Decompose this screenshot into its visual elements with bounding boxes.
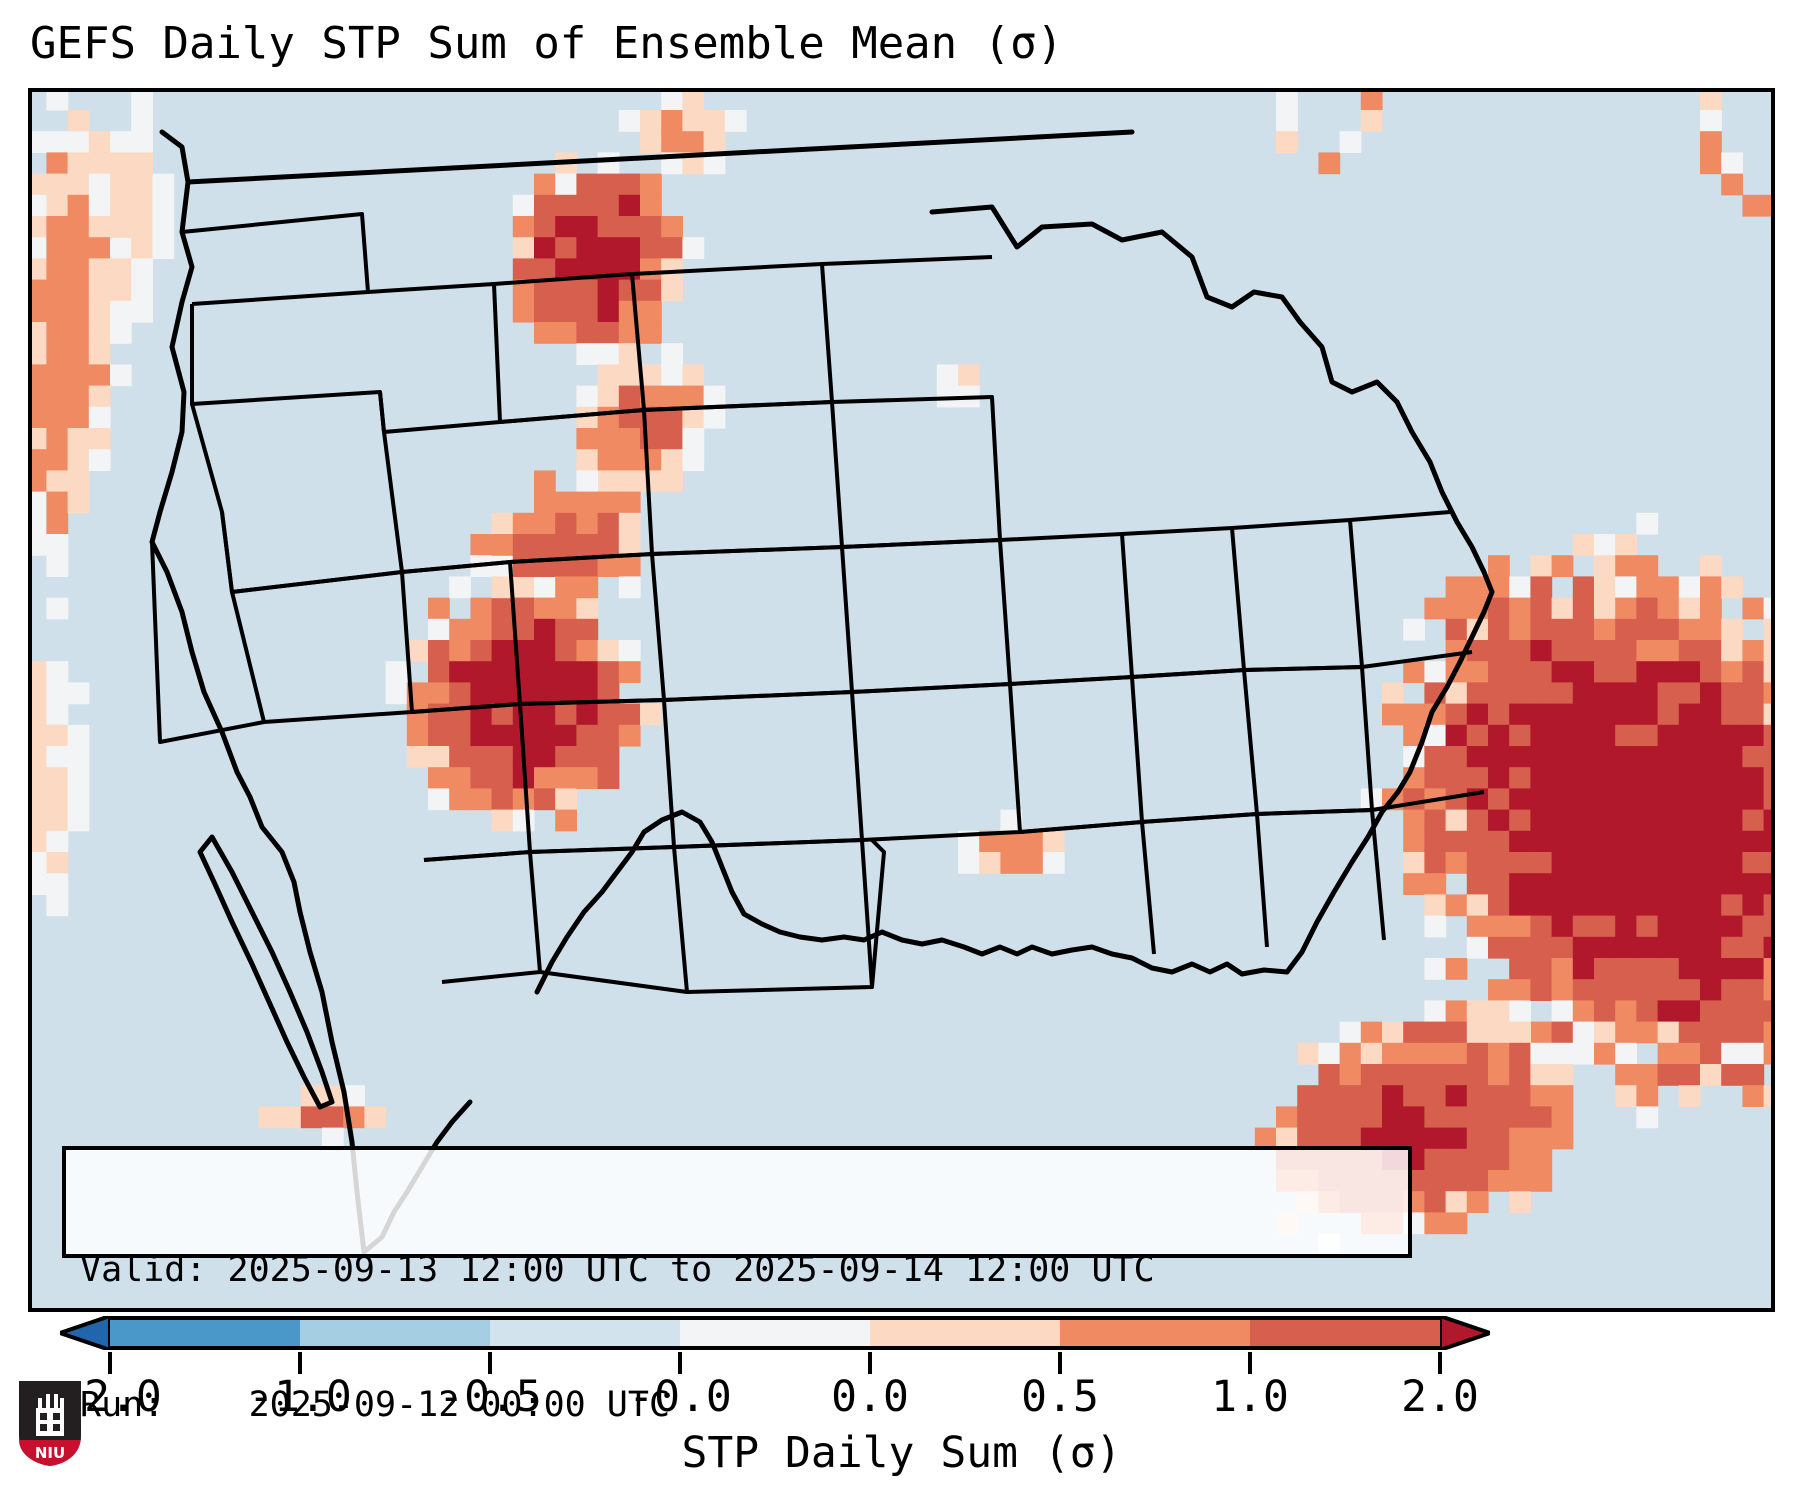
heatmap-cell bbox=[1530, 1043, 1552, 1065]
heatmap-cell bbox=[555, 725, 577, 747]
heatmap-cell bbox=[1446, 831, 1468, 853]
heatmap-cell bbox=[598, 216, 620, 238]
heatmap-cell bbox=[1658, 894, 1680, 916]
heatmap-cell bbox=[682, 364, 704, 386]
heatmap-cell bbox=[640, 704, 662, 726]
heatmap-cell bbox=[68, 152, 90, 174]
heatmap-cell bbox=[1658, 788, 1680, 810]
heatmap-cell bbox=[32, 492, 47, 514]
heatmap-cell bbox=[1488, 767, 1510, 789]
heatmap-cell bbox=[598, 322, 620, 344]
heatmap-cell bbox=[1721, 152, 1743, 174]
heatmap-cell bbox=[725, 110, 747, 132]
heatmap-cell bbox=[534, 640, 556, 662]
heatmap-cell bbox=[32, 873, 47, 895]
valid-run-infobox: Valid: 2025-09-13 12:00 UTC to 2025-09-1… bbox=[62, 1146, 1412, 1258]
heatmap-cell bbox=[640, 258, 662, 280]
heatmap-cell bbox=[1742, 852, 1764, 874]
colorbar-segment-2 bbox=[490, 1320, 680, 1346]
heatmap-cell bbox=[555, 322, 577, 344]
heatmap-cell bbox=[1552, 831, 1574, 853]
heatmap-cell bbox=[1530, 788, 1552, 810]
heatmap-cell bbox=[576, 470, 598, 492]
heatmap-cell bbox=[619, 725, 641, 747]
heatmap-cell bbox=[513, 258, 535, 280]
heatmap-cell bbox=[1658, 937, 1680, 959]
heatmap-cell bbox=[555, 492, 577, 514]
heatmap-cell bbox=[1658, 619, 1680, 641]
heatmap-cell bbox=[1594, 873, 1616, 895]
heatmap-cell bbox=[640, 470, 662, 492]
heatmap-cell bbox=[1764, 195, 1771, 217]
heatmap-cell bbox=[1000, 852, 1022, 874]
heatmap-cell bbox=[555, 576, 577, 598]
heatmap-cell bbox=[68, 492, 90, 514]
heatmap-cell bbox=[89, 258, 111, 280]
heatmap-cell bbox=[1721, 788, 1743, 810]
heatmap-cell bbox=[1615, 1085, 1637, 1107]
heatmap-cell bbox=[492, 725, 514, 747]
heatmap-cell bbox=[470, 725, 492, 747]
heatmap-cell bbox=[1530, 746, 1552, 768]
heatmap-cell bbox=[1509, 1128, 1531, 1150]
colorbar-tick-label-5: 0.5 bbox=[1021, 1372, 1099, 1422]
heatmap-cell bbox=[1658, 958, 1680, 980]
heatmap-cell bbox=[492, 682, 514, 704]
heatmap-cell bbox=[1594, 788, 1616, 810]
heatmap-cell bbox=[534, 174, 556, 196]
heatmap-cell bbox=[513, 576, 535, 598]
heatmap-cell bbox=[46, 258, 68, 280]
heatmap-cell bbox=[1361, 1064, 1383, 1086]
heatmap-cell bbox=[598, 704, 620, 726]
heatmap-cell bbox=[513, 810, 535, 832]
heatmap-cell bbox=[110, 152, 132, 174]
heatmap-cell bbox=[534, 470, 556, 492]
heatmap-cell bbox=[1700, 788, 1722, 810]
heatmap-cell bbox=[89, 131, 111, 153]
heatmap-cell bbox=[152, 195, 174, 217]
heatmap-cell bbox=[640, 237, 662, 259]
heatmap-cell bbox=[68, 110, 90, 132]
heatmap-cell bbox=[1467, 682, 1489, 704]
heatmap-cell bbox=[1594, 916, 1616, 938]
heatmap-cell bbox=[1488, 1043, 1510, 1065]
heatmap-cell bbox=[1700, 767, 1722, 789]
heatmap-cell bbox=[1446, 704, 1468, 726]
heatmap-cell bbox=[1615, 958, 1637, 980]
heatmap-cell bbox=[32, 852, 47, 874]
heatmap-cell bbox=[1467, 916, 1489, 938]
heatmap-cell bbox=[598, 237, 620, 259]
niu-logo: NIU bbox=[16, 1378, 84, 1468]
heatmap-cell bbox=[619, 470, 641, 492]
heatmap-cell bbox=[1424, 1191, 1446, 1213]
heatmap-cell bbox=[131, 110, 153, 132]
heatmap-cell bbox=[619, 704, 641, 726]
heatmap-cell bbox=[1530, 810, 1552, 832]
heatmap-cell bbox=[1552, 1128, 1574, 1150]
heatmap-cell bbox=[1424, 1212, 1446, 1234]
heatmap-cell bbox=[1361, 110, 1383, 132]
heatmap-cell bbox=[1742, 958, 1764, 980]
heatmap-cell bbox=[68, 428, 90, 450]
heatmap-cell bbox=[619, 364, 641, 386]
heatmap-cell bbox=[534, 619, 556, 641]
heatmap-cell bbox=[619, 449, 641, 471]
heatmap-cell bbox=[1509, 704, 1531, 726]
heatmap-cell bbox=[598, 661, 620, 683]
heatmap-cell bbox=[1700, 937, 1722, 959]
heatmap-cell bbox=[1594, 598, 1616, 620]
heatmap-cell bbox=[619, 216, 641, 238]
heatmap-cell bbox=[1403, 810, 1425, 832]
heatmap-cell bbox=[1530, 1149, 1552, 1171]
heatmap-cell bbox=[1573, 1022, 1595, 1044]
heatmap-cell bbox=[32, 704, 47, 726]
heatmap-cell bbox=[1488, 937, 1510, 959]
heatmap-cell bbox=[1488, 852, 1510, 874]
heatmap-cell bbox=[1403, 704, 1425, 726]
heatmap-cell bbox=[1552, 1106, 1574, 1128]
heatmap-cell bbox=[1764, 746, 1771, 768]
heatmap-cell bbox=[1424, 873, 1446, 895]
heatmap-cell bbox=[704, 386, 726, 408]
heatmap-cell bbox=[46, 407, 68, 429]
heatmap-cell bbox=[1488, 725, 1510, 747]
heatmap-cell bbox=[513, 704, 535, 726]
heatmap-cell bbox=[1530, 640, 1552, 662]
heatmap-cell bbox=[1658, 1022, 1680, 1044]
heatmap-cell bbox=[1530, 682, 1552, 704]
heatmap-cell bbox=[89, 174, 111, 196]
heatmap-cell bbox=[1361, 1085, 1383, 1107]
heatmap-cell bbox=[1615, 555, 1637, 577]
heatmap-cell bbox=[1658, 576, 1680, 598]
heatmap-cell bbox=[1488, 1128, 1510, 1150]
heatmap-cell bbox=[1446, 619, 1468, 641]
heatmap-cell bbox=[46, 725, 68, 747]
heatmap-cell bbox=[1721, 979, 1743, 1001]
heatmap-cell bbox=[1530, 619, 1552, 641]
heatmap-cell bbox=[1403, 1022, 1425, 1044]
colorbar-tick-label-2: -0.5 bbox=[438, 1372, 542, 1422]
heatmap-cell bbox=[1488, 873, 1510, 895]
heatmap-cell bbox=[1552, 661, 1574, 683]
heatmap-cell bbox=[576, 428, 598, 450]
heatmap-cell bbox=[1573, 661, 1595, 683]
heatmap-cell bbox=[1573, 1000, 1595, 1022]
heatmap-cell bbox=[428, 746, 450, 768]
heatmap-cell bbox=[32, 682, 47, 704]
heatmap-cell bbox=[32, 746, 47, 768]
heatmap-cell bbox=[386, 682, 408, 704]
colorbar-tick-2 bbox=[488, 1352, 492, 1374]
heatmap-cell bbox=[1509, 598, 1531, 620]
heatmap-cell bbox=[1573, 576, 1595, 598]
heatmap-cell bbox=[364, 1106, 386, 1128]
heatmap-cell bbox=[1043, 852, 1065, 874]
heatmap-cell bbox=[1424, 1149, 1446, 1171]
heatmap-cell bbox=[534, 682, 556, 704]
heatmap-cell bbox=[1424, 1064, 1446, 1086]
heatmap-cell bbox=[68, 767, 90, 789]
heatmap-cell bbox=[1594, 704, 1616, 726]
heatmap-cell bbox=[1382, 1106, 1404, 1128]
heatmap-cell bbox=[1446, 767, 1468, 789]
heatmap-cell bbox=[1573, 810, 1595, 832]
heatmap-cell bbox=[1424, 916, 1446, 938]
heatmap-cell bbox=[46, 746, 68, 768]
heatmap-cell bbox=[1424, 894, 1446, 916]
heatmap-cell bbox=[1658, 767, 1680, 789]
heatmap-cell bbox=[1573, 979, 1595, 1001]
heatmap-cell bbox=[1764, 958, 1771, 980]
heatmap-cell bbox=[1679, 831, 1701, 853]
heatmap-cell bbox=[492, 619, 514, 641]
heatmap-cell bbox=[68, 280, 90, 302]
heatmap-cell bbox=[534, 237, 556, 259]
heatmap-cell bbox=[1488, 979, 1510, 1001]
heatmap-cell bbox=[598, 195, 620, 217]
heatmap-cell bbox=[576, 407, 598, 429]
heatmap-cell bbox=[1658, 810, 1680, 832]
heatmap-cell bbox=[1700, 916, 1722, 938]
heatmap-cell bbox=[1382, 1043, 1404, 1065]
heatmap-cell bbox=[513, 513, 535, 535]
heatmap-cell bbox=[131, 131, 153, 153]
heatmap-cell bbox=[32, 831, 47, 853]
heatmap-cell bbox=[1509, 810, 1531, 832]
heatmap-cell bbox=[555, 810, 577, 832]
heatmap-cell bbox=[46, 364, 68, 386]
heatmap-cell bbox=[555, 534, 577, 556]
heatmap-cell bbox=[1340, 1106, 1362, 1128]
heatmap-cell bbox=[1530, 1064, 1552, 1086]
heatmap-cell bbox=[1636, 555, 1658, 577]
heatmap-cell bbox=[1742, 1022, 1764, 1044]
heatmap-cell bbox=[1700, 640, 1722, 662]
heatmap-cell bbox=[1552, 788, 1574, 810]
heatmap-cell bbox=[619, 258, 641, 280]
heatmap-cell bbox=[68, 301, 90, 323]
heatmap-cell bbox=[1700, 576, 1722, 598]
heatmap-cell bbox=[131, 152, 153, 174]
heatmap-cell bbox=[1573, 958, 1595, 980]
heatmap-cell bbox=[1636, 1022, 1658, 1044]
heatmap-cell bbox=[1679, 873, 1701, 895]
heatmap-cell bbox=[1658, 661, 1680, 683]
heatmap-cell bbox=[513, 555, 535, 577]
heatmap-cell bbox=[110, 174, 132, 196]
heatmap-cell bbox=[1276, 131, 1298, 153]
heatmap-cell bbox=[534, 788, 556, 810]
heatmap-cell bbox=[576, 174, 598, 196]
heatmap-cell bbox=[449, 746, 471, 768]
heatmap-cell bbox=[1742, 1000, 1764, 1022]
colorbar-tick-5 bbox=[1058, 1352, 1062, 1374]
heatmap-cell bbox=[1403, 788, 1425, 810]
heatmap-cell bbox=[1636, 852, 1658, 874]
map-panel[interactable] bbox=[28, 88, 1775, 1312]
heatmap-cell bbox=[1488, 682, 1510, 704]
heatmap-cell bbox=[68, 788, 90, 810]
heatmap-cell bbox=[1615, 873, 1637, 895]
heatmap-cell bbox=[492, 640, 514, 662]
heatmap-cell bbox=[46, 513, 68, 535]
heatmap-cell bbox=[555, 195, 577, 217]
heatmap-cell bbox=[1594, 894, 1616, 916]
colorbar-tick-3 bbox=[678, 1352, 682, 1374]
heatmap-cell bbox=[1446, 598, 1468, 620]
heatmap-cell bbox=[1467, 767, 1489, 789]
heatmap-cell bbox=[1721, 958, 1743, 980]
heatmap-cell bbox=[470, 682, 492, 704]
heatmap-cell bbox=[1403, 1085, 1425, 1107]
heatmap-cell bbox=[1552, 640, 1574, 662]
heatmap-cell bbox=[449, 619, 471, 641]
heatmap-cell bbox=[1467, 1128, 1489, 1150]
heatmap-cell bbox=[386, 661, 408, 683]
heatmap-cell bbox=[1552, 1043, 1574, 1065]
heatmap-cell bbox=[1573, 704, 1595, 726]
heatmap-cell bbox=[576, 386, 598, 408]
heatmap-cell bbox=[1594, 958, 1616, 980]
heatmap-cell bbox=[470, 788, 492, 810]
heatmap-cell bbox=[89, 449, 111, 471]
heatmap-cell bbox=[1573, 831, 1595, 853]
heatmap-cell bbox=[1764, 725, 1771, 747]
heatmap-cell bbox=[1446, 746, 1468, 768]
heatmap-cell bbox=[598, 343, 620, 365]
heatmap-cell bbox=[1509, 1043, 1531, 1065]
heatmap-cell bbox=[32, 322, 47, 344]
heatmap-cell bbox=[1530, 873, 1552, 895]
heatmap-cell bbox=[32, 449, 47, 471]
heatmap-cell bbox=[1721, 661, 1743, 683]
heatmap-cell bbox=[1764, 852, 1771, 874]
heatmap-cell bbox=[89, 237, 111, 259]
heatmap-cell bbox=[619, 492, 641, 514]
colorbar-gradient[interactable] bbox=[110, 1316, 1440, 1350]
heatmap-cell bbox=[1679, 1043, 1701, 1065]
heatmap-cell bbox=[598, 386, 620, 408]
heatmap-cell bbox=[1700, 110, 1722, 132]
heatmap-cell bbox=[619, 110, 641, 132]
heatmap-cell bbox=[1636, 725, 1658, 747]
heatmap-cell bbox=[1636, 640, 1658, 662]
heatmap-cell bbox=[131, 301, 153, 323]
heatmap-cell bbox=[534, 280, 556, 302]
heatmap-cell bbox=[32, 470, 47, 492]
heatmap-cell bbox=[1721, 1043, 1743, 1065]
heatmap-cell bbox=[1424, 831, 1446, 853]
heatmap-cell bbox=[1509, 725, 1531, 747]
heatmap-cell bbox=[1615, 767, 1637, 789]
heatmap-cell bbox=[619, 195, 641, 217]
heatmap-cell bbox=[576, 746, 598, 768]
heatmap-cell bbox=[661, 428, 683, 450]
heatmap-cell bbox=[1764, 894, 1771, 916]
heatmap-cell bbox=[576, 534, 598, 556]
heatmap-cell bbox=[1721, 916, 1743, 938]
heatmap-cell bbox=[32, 725, 47, 747]
heatmap-cell bbox=[1594, 937, 1616, 959]
heatmap-cell bbox=[68, 746, 90, 768]
heatmap-cell bbox=[598, 407, 620, 429]
colorbar[interactable] bbox=[0, 1316, 1803, 1356]
heatmap-cell bbox=[937, 364, 959, 386]
heatmap-cell bbox=[958, 364, 980, 386]
heatmap-cell bbox=[1636, 1106, 1658, 1128]
heatmap-cell bbox=[46, 92, 68, 111]
heatmap-cell bbox=[428, 788, 450, 810]
heatmap-cell bbox=[1509, 788, 1531, 810]
heatmap-cell bbox=[1509, 831, 1531, 853]
heatmap-cell bbox=[1679, 788, 1701, 810]
heatmap-cell bbox=[513, 682, 535, 704]
heatmap-cell bbox=[110, 237, 132, 259]
heatmap-cell bbox=[576, 216, 598, 238]
heatmap-cell bbox=[619, 576, 641, 598]
heatmap-cell bbox=[1700, 1043, 1722, 1065]
heatmap-cell bbox=[492, 810, 514, 832]
heatmap-cell bbox=[1658, 831, 1680, 853]
heatmap-cell bbox=[1615, 979, 1637, 1001]
heatmap-cell bbox=[89, 407, 111, 429]
heatmap-cell bbox=[1700, 1064, 1722, 1086]
heatmap-cell bbox=[449, 661, 471, 683]
heatmap-cell bbox=[555, 619, 577, 641]
heatmap-cell bbox=[1615, 746, 1637, 768]
heatmap-cell bbox=[1446, 1170, 1468, 1192]
heatmap-cell bbox=[1382, 1085, 1404, 1107]
heatmap-cell bbox=[1594, 682, 1616, 704]
heatmap-cell bbox=[1594, 852, 1616, 874]
heatmap-cell bbox=[1721, 1064, 1743, 1086]
heatmap-cell bbox=[1509, 1170, 1531, 1192]
heatmap-cell bbox=[1530, 1170, 1552, 1192]
heatmap-cell bbox=[1594, 661, 1616, 683]
heatmap-cell bbox=[46, 661, 68, 683]
heatmap-cell bbox=[1742, 725, 1764, 747]
heatmap-cell bbox=[1530, 661, 1552, 683]
heatmap-cell bbox=[1488, 555, 1510, 577]
gefs-stp-map-figure: GEFS Daily STP Sum of Ensemble Mean (σ) bbox=[0, 0, 1803, 1506]
heatmap-cell bbox=[1700, 831, 1722, 853]
heatmap-cell bbox=[1700, 958, 1722, 980]
heatmap-cell bbox=[110, 364, 132, 386]
heatmap-cell bbox=[1700, 979, 1722, 1001]
heatmap-cell bbox=[598, 534, 620, 556]
heatmap-cell bbox=[131, 280, 153, 302]
heatmap-cell bbox=[1594, 619, 1616, 641]
heatmap-cell bbox=[576, 237, 598, 259]
heatmap-cell bbox=[131, 258, 153, 280]
heatmap-cell bbox=[534, 195, 556, 217]
heatmap-cell bbox=[1742, 810, 1764, 832]
heatmap-cell bbox=[1424, 598, 1446, 620]
heatmap-cell bbox=[46, 152, 68, 174]
heatmap-cell bbox=[1742, 894, 1764, 916]
heatmap-cell bbox=[598, 513, 620, 535]
heatmap-cell bbox=[1424, 1106, 1446, 1128]
heatmap-cell bbox=[704, 110, 726, 132]
heatmap-cell bbox=[428, 725, 450, 747]
heatmap-cell bbox=[1530, 958, 1552, 980]
heatmap-cell bbox=[1446, 1000, 1468, 1022]
heatmap-cell bbox=[1361, 1043, 1383, 1065]
